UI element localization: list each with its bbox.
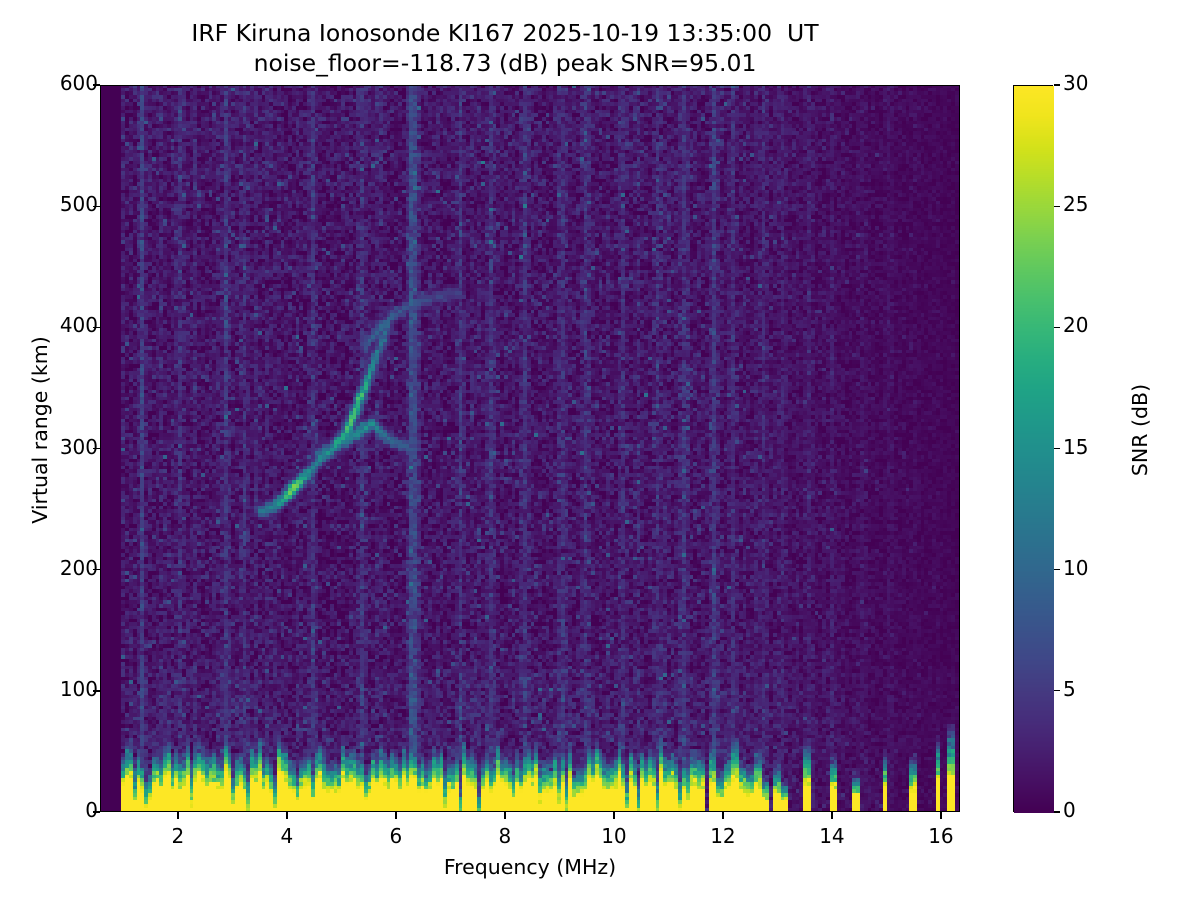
- colorbar-tick-label: 0: [1063, 798, 1076, 822]
- x-tick-label: 2: [148, 824, 208, 848]
- y-tick-label: 300: [60, 435, 98, 459]
- x-tick-mark: [722, 812, 723, 819]
- colorbar-tick-mark: [1054, 811, 1060, 812]
- colorbar-tick-mark: [1054, 690, 1060, 691]
- colorbar-tick-mark: [1054, 448, 1060, 449]
- y-tick-label: 200: [60, 556, 98, 580]
- y-tick-label: 500: [60, 192, 98, 216]
- colorbar-tick-label: 10: [1063, 556, 1088, 580]
- x-tick-mark: [177, 812, 178, 819]
- x-tick-mark: [395, 812, 396, 819]
- x-tick-label: 6: [366, 824, 426, 848]
- colorbar-tick-label: 25: [1063, 192, 1088, 216]
- ionogram-plot-area[interactable]: [100, 85, 960, 812]
- colorbar-tick-label: 20: [1063, 313, 1088, 337]
- colorbar-tick-mark: [1054, 84, 1060, 85]
- x-tick-mark: [831, 812, 832, 819]
- colorbar-tick-label: 5: [1063, 677, 1076, 701]
- colorbar-tick-label: 30: [1063, 71, 1088, 95]
- colorbar-tick-mark: [1054, 327, 1060, 328]
- x-tick-mark: [286, 812, 287, 819]
- title-line-1: IRF Kiruna Ionosonde KI167 2025-10-19 13…: [0, 18, 1010, 48]
- colorbar-gradient: [1014, 86, 1054, 813]
- colorbar-label: SNR (dB): [1128, 265, 1152, 595]
- x-tick-label: 16: [911, 824, 971, 848]
- ionogram-figure: IRF Kiruna Ionosonde KI167 2025-10-19 13…: [0, 0, 1200, 900]
- figure-title: IRF Kiruna Ionosonde KI167 2025-10-19 13…: [0, 18, 1010, 78]
- x-tick-mark: [940, 812, 941, 819]
- x-tick-label: 12: [693, 824, 753, 848]
- y-tick-label: 0: [85, 798, 98, 822]
- ionogram-heatmap-canvas[interactable]: [101, 86, 960, 812]
- y-tick-label: 400: [60, 313, 98, 337]
- x-tick-label: 4: [257, 824, 317, 848]
- x-tick-label: 14: [802, 824, 862, 848]
- colorbar[interactable]: [1013, 85, 1053, 812]
- colorbar-tick-label: 15: [1063, 435, 1088, 459]
- x-tick-label: 8: [475, 824, 535, 848]
- y-tick-label: 600: [60, 71, 98, 95]
- y-axis-label: Virtual range (km): [28, 265, 52, 595]
- title-line-2: noise_floor=-118.73 (dB) peak SNR=95.01: [0, 48, 1010, 78]
- x-axis-label: Frequency (MHz): [100, 855, 960, 879]
- x-tick-label: 10: [584, 824, 644, 848]
- x-tick-mark: [504, 812, 505, 819]
- x-tick-mark: [613, 812, 614, 819]
- colorbar-tick-mark: [1054, 569, 1060, 570]
- y-tick-label: 100: [60, 677, 98, 701]
- colorbar-tick-mark: [1054, 206, 1060, 207]
